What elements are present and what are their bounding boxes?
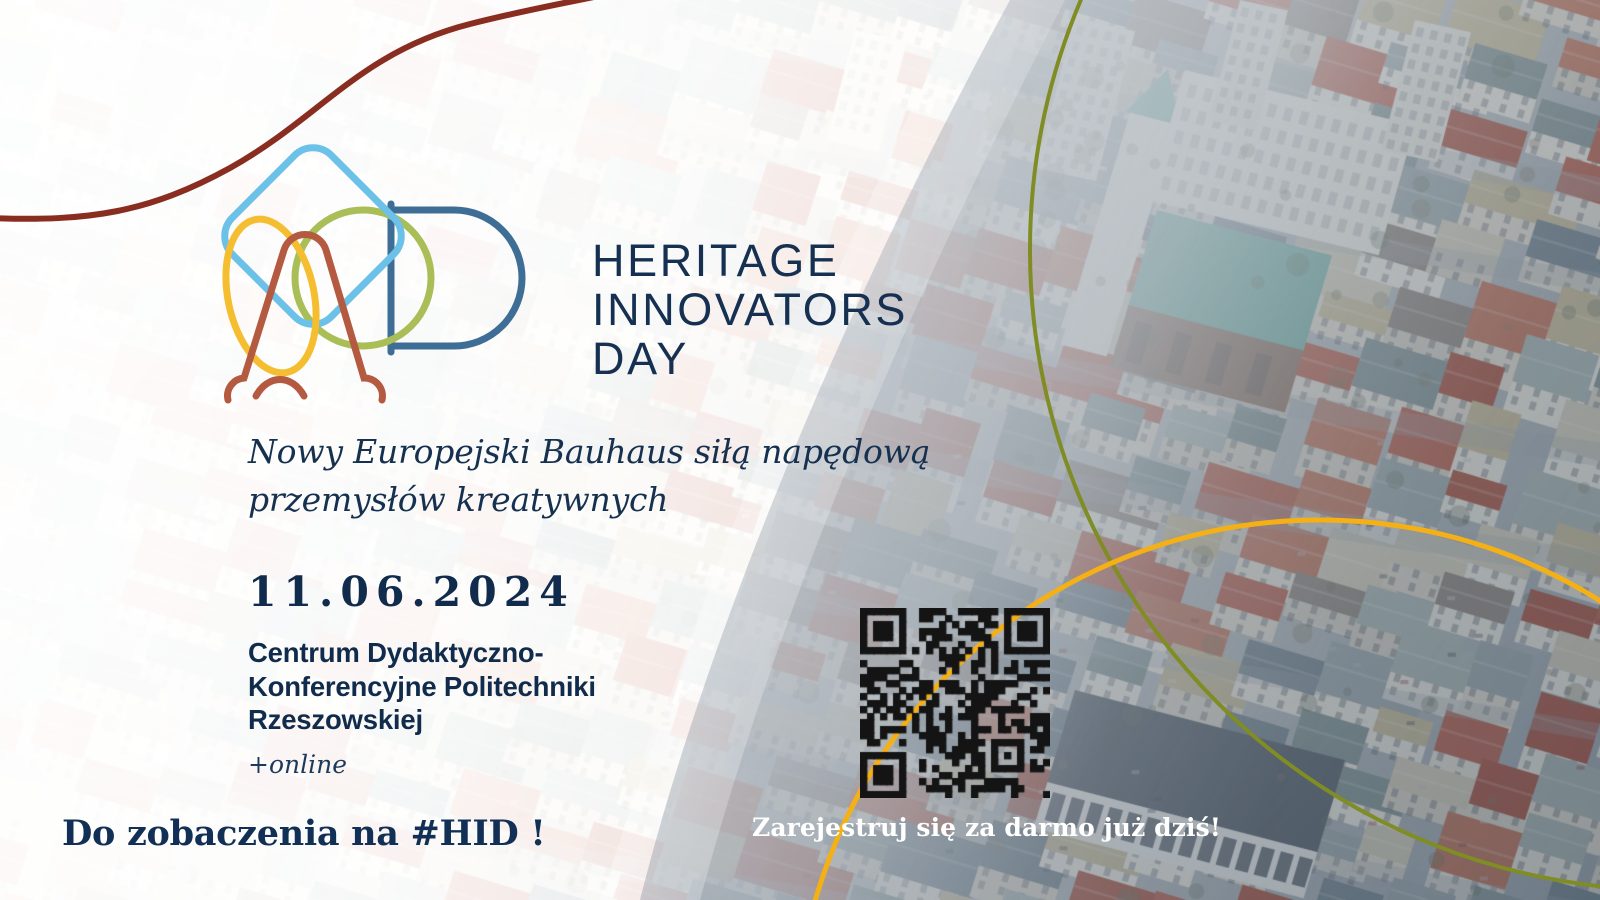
logo-letter-a-crossbar: [256, 380, 304, 397]
registration-qr-code[interactable]: [860, 608, 1050, 798]
poster-subtitle: Nowy Europejski Bauhaus siłą napędową pr…: [248, 428, 1008, 524]
venue-line-3: Rzeszowskiej: [248, 703, 648, 737]
title-line-day: DAY: [592, 334, 908, 383]
venue-line-1: Centrum Dydaktyczno-: [248, 636, 648, 670]
event-poster: HERITAGE INNOVATORS DAY Nowy Europejski …: [0, 0, 1600, 900]
subtitle-line-1: Nowy Europejski Bauhaus siłą napędową: [248, 428, 1008, 476]
subtitle-line-2: przemysłów kreatywnych: [248, 476, 1008, 524]
logo-mark: [196, 128, 556, 412]
farewell-text: Do zobaczenia na #HID !: [62, 813, 545, 854]
event-mode-online: +online: [248, 750, 347, 779]
title-line-innovators: INNOVATORS: [592, 285, 908, 334]
event-venue: Centrum Dydaktyczno- Konferencyjne Polit…: [248, 636, 648, 737]
event-date: 11.06.2024: [248, 568, 575, 616]
venue-line-2: Konferencyjne Politechniki: [248, 670, 648, 704]
title-line-heritage: HERITAGE: [592, 236, 908, 285]
poster-title: HERITAGE INNOVATORS DAY: [592, 236, 908, 383]
register-cta-text: Zarejestruj się za darmo już dziś!: [752, 813, 1221, 842]
